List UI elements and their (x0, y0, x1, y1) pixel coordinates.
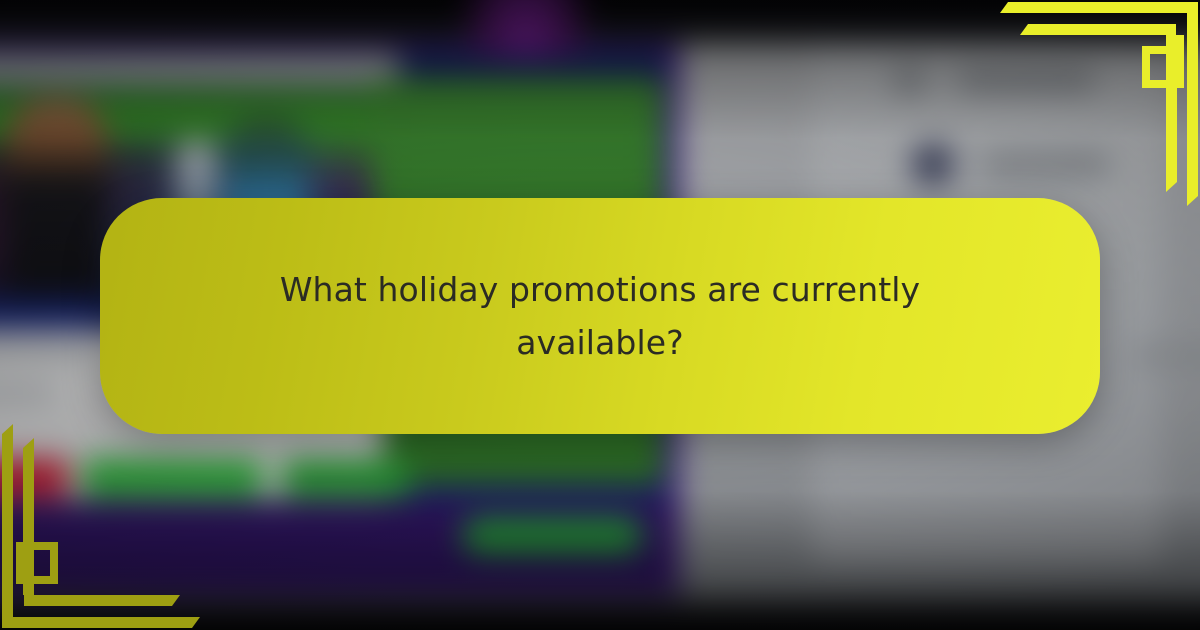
background-dialog-input (0, 386, 54, 400)
background-primary-button (83, 458, 263, 498)
question-card: What holiday promotions are currently av… (100, 198, 1100, 434)
background-hero-figure-left (6, 98, 107, 299)
background-secondary-button (282, 458, 409, 498)
background-list-row-label-3 (1135, 347, 1200, 364)
screenshot-stage: What holiday promotions are currently av… (0, 0, 1200, 630)
background-list-row-label-1 (958, 68, 1094, 91)
background-list-row-square-icon (895, 66, 925, 96)
background-footer-pill-button (462, 519, 642, 555)
background-list-row-label-2 (982, 153, 1109, 176)
background-dialog-text-line (0, 344, 91, 358)
background-purple-glow (462, 0, 589, 55)
background-danger-button (0, 458, 68, 498)
background-list-row-avatar-icon (911, 142, 956, 187)
background-bottom-bar (0, 596, 1200, 630)
background-top-bar (0, 0, 1200, 43)
question-text: What holiday promotions are currently av… (255, 263, 945, 370)
background-hero-stripe-top (0, 53, 399, 81)
